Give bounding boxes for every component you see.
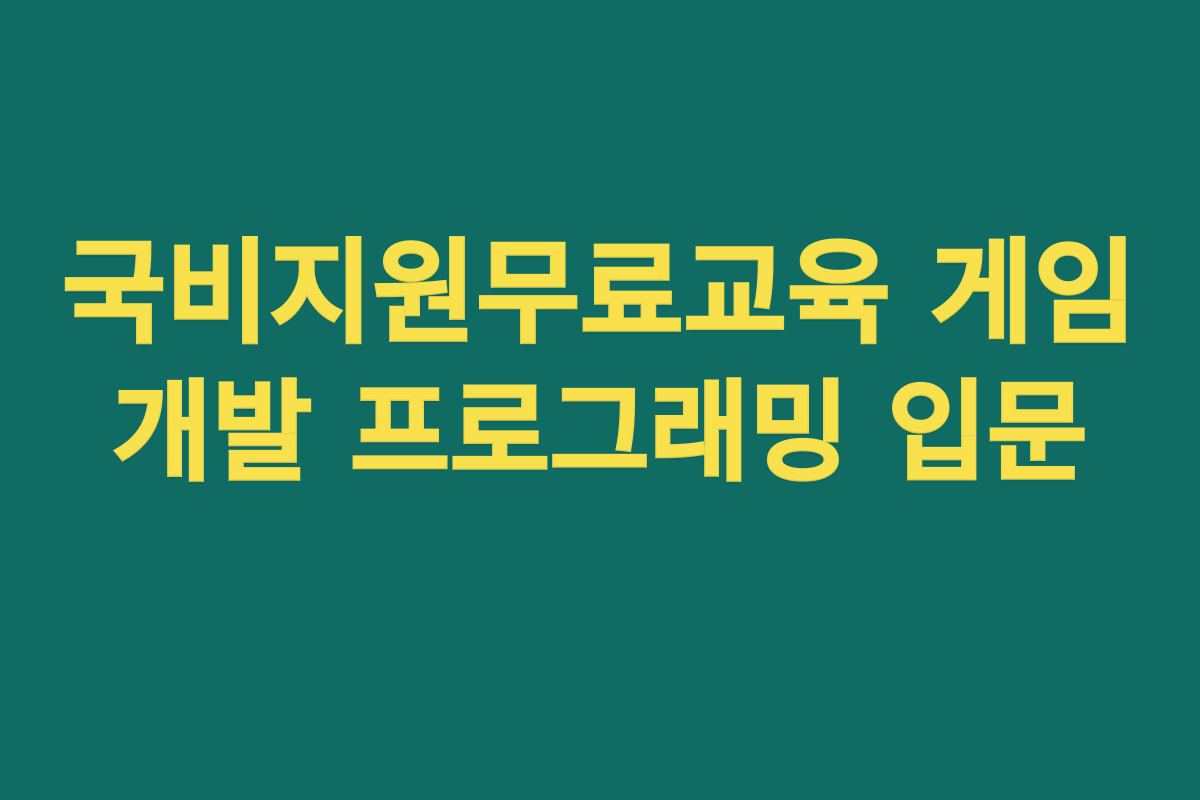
headline-line-2: 개발 프로그래밍 입문 [0,364,1200,504]
headline-line-1: 국비지원무료교육 게임 [0,224,1200,364]
headline-block: 국비지원무료교육 게임 개발 프로그래밍 입문 [0,224,1200,504]
banner-canvas: 국비지원무료교육 게임 개발 프로그래밍 입문 [0,0,1200,800]
